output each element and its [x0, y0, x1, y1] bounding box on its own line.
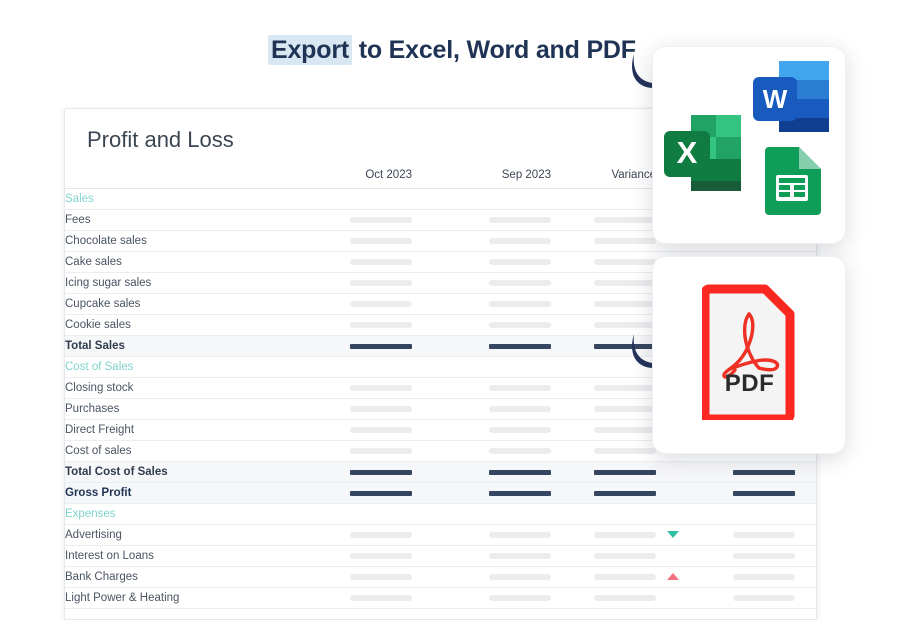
- variance-arrow-cell: [412, 315, 446, 336]
- value-placeholder-sep: [446, 504, 551, 525]
- value-bar: [733, 491, 795, 496]
- row-label: Direct Freight: [65, 420, 307, 441]
- value-bar: [733, 470, 795, 475]
- variance-arrow-cell: [412, 189, 446, 210]
- variance-arrow-cell: [412, 294, 446, 315]
- value-placeholder-extra: [795, 588, 817, 609]
- word-icon[interactable]: W: [751, 57, 833, 139]
- value-placeholder-variance: [551, 546, 656, 567]
- value-placeholder-oct: [307, 441, 412, 462]
- variance-arrow-cell: [412, 525, 446, 546]
- value-bar: [489, 448, 551, 454]
- arrow-up-icon: [667, 573, 679, 580]
- value-bar: [733, 532, 795, 538]
- value-placeholder-variance: [551, 483, 656, 504]
- row-label: Expenses: [65, 504, 307, 525]
- value-bar: [489, 217, 551, 223]
- value-placeholder-varpct: [690, 462, 795, 483]
- value-placeholder-sep: [446, 210, 551, 231]
- value-bar: [489, 427, 551, 433]
- value-placeholder-oct: [307, 588, 412, 609]
- variance-arrow-cell: [412, 504, 446, 525]
- table-row: Advertising: [65, 525, 817, 546]
- col-header-sep-2023: Sep 2023: [446, 169, 551, 189]
- value-placeholder-sep: [446, 336, 551, 357]
- value-placeholder-oct: [307, 483, 412, 504]
- value-placeholder-sep: [446, 399, 551, 420]
- value-placeholder-oct: [307, 567, 412, 588]
- row-label: Cake sales: [65, 252, 307, 273]
- value-bar: [489, 470, 551, 475]
- value-bar: [733, 553, 795, 559]
- row-label: Closing stock: [65, 378, 307, 399]
- row-label: Cookie sales: [65, 315, 307, 336]
- variance-arrow-cell: [412, 483, 446, 504]
- value-placeholder-sep: [446, 483, 551, 504]
- pdf-label: PDF: [702, 370, 797, 398]
- value-placeholder-sep: [446, 315, 551, 336]
- value-bar: [350, 301, 412, 307]
- value-placeholder-sep: [446, 588, 551, 609]
- value-placeholder-varpct: [690, 588, 795, 609]
- value-placeholder-oct: [307, 273, 412, 294]
- value-placeholder-oct: [307, 399, 412, 420]
- table-row: Interest on Loans: [65, 546, 817, 567]
- value-placeholder-variance: [551, 399, 656, 420]
- value-placeholder-variance: [551, 504, 656, 525]
- value-bar: [489, 491, 551, 496]
- value-bar: [594, 595, 656, 601]
- value-placeholder-sep: [446, 294, 551, 315]
- variance-arrow-cell: [412, 420, 446, 441]
- value-bar: [350, 491, 412, 496]
- value-bar: [350, 532, 412, 538]
- row-label: Chocolate sales: [65, 231, 307, 252]
- col-header-blank: [65, 169, 307, 189]
- svg-text:W: W: [763, 84, 788, 114]
- office-export-card[interactable]: X W: [652, 46, 846, 244]
- value-bar: [594, 491, 656, 496]
- value-bar: [594, 574, 656, 580]
- value-bar: [350, 553, 412, 559]
- value-placeholder-variance: [551, 462, 656, 483]
- table-row: Bank Charges: [65, 567, 817, 588]
- value-bar: [489, 406, 551, 412]
- value-bar: [489, 574, 551, 580]
- value-placeholder-variance: [551, 588, 656, 609]
- value-placeholder-oct: [307, 294, 412, 315]
- variance-arrow-cell: [412, 567, 446, 588]
- value-placeholder-oct: [307, 504, 412, 525]
- value-placeholder-variance: [551, 273, 656, 294]
- value-bar: [489, 385, 551, 391]
- value-placeholder-oct: [307, 315, 412, 336]
- value-placeholder-extra: [795, 462, 817, 483]
- row-label: Light Power & Heating: [65, 588, 307, 609]
- value-bar: [594, 470, 656, 475]
- value-placeholder-oct: [307, 189, 412, 210]
- variance-arrow-cell: [656, 483, 690, 504]
- variance-arrow-cell: [412, 546, 446, 567]
- value-placeholder-oct: [307, 231, 412, 252]
- row-label: Sales: [65, 189, 307, 210]
- variance-arrow-cell: [412, 462, 446, 483]
- value-bar: [489, 301, 551, 307]
- value-placeholder-oct: [307, 546, 412, 567]
- value-bar: [350, 574, 412, 580]
- value-placeholder-sep: [446, 441, 551, 462]
- variance-arrow-cell: [412, 252, 446, 273]
- value-placeholder-varpct: [690, 504, 795, 525]
- value-placeholder-variance: [551, 189, 656, 210]
- value-placeholder-oct: [307, 252, 412, 273]
- variance-arrow-cell: [656, 588, 690, 609]
- value-placeholder-oct: [307, 210, 412, 231]
- value-placeholder-sep: [446, 378, 551, 399]
- value-bar: [350, 470, 412, 475]
- col-header-oct-2023: Oct 2023: [307, 169, 412, 189]
- value-placeholder-extra: [795, 504, 817, 525]
- value-bar: [489, 322, 551, 328]
- row-label: Cost of sales: [65, 441, 307, 462]
- pdf-icon[interactable]: PDF: [702, 284, 797, 420]
- value-placeholder-oct: [307, 462, 412, 483]
- value-bar: [733, 595, 795, 601]
- value-bar: [594, 385, 656, 391]
- variance-arrow-cell: [412, 441, 446, 462]
- value-placeholder-variance: [551, 378, 656, 399]
- google-sheets-icon[interactable]: [759, 143, 827, 215]
- value-placeholder-oct: [307, 420, 412, 441]
- value-placeholder-varpct: [690, 483, 795, 504]
- value-bar: [350, 322, 412, 328]
- value-bar: [594, 322, 656, 328]
- table-row: Expenses: [65, 504, 817, 525]
- page-headline: Export to Excel, Word and PDF: [268, 36, 636, 65]
- variance-arrow-cell: [412, 273, 446, 294]
- headline-highlight: Export: [268, 35, 352, 65]
- row-label: Total Sales: [65, 336, 307, 357]
- value-bar: [489, 280, 551, 286]
- value-bar: [489, 344, 551, 349]
- value-placeholder-variance: [551, 567, 656, 588]
- pdf-export-card[interactable]: PDF: [652, 256, 846, 454]
- variance-arrow-cell: [412, 378, 446, 399]
- value-bar: [350, 217, 412, 223]
- value-bar: [594, 448, 656, 454]
- col-header-variance: Variance: [551, 169, 656, 189]
- value-bar: [594, 301, 656, 307]
- value-bar: [594, 217, 656, 223]
- value-placeholder-sep: [446, 231, 551, 252]
- value-bar: [350, 448, 412, 454]
- value-bar: [594, 280, 656, 286]
- value-bar: [594, 532, 656, 538]
- value-placeholder-variance: [551, 210, 656, 231]
- value-placeholder-variance: [551, 252, 656, 273]
- value-placeholder-variance: [551, 231, 656, 252]
- value-placeholder-variance: [551, 294, 656, 315]
- value-placeholder-sep: [446, 567, 551, 588]
- value-placeholder-variance: [551, 441, 656, 462]
- value-placeholder-extra: [795, 567, 817, 588]
- value-bar: [733, 574, 795, 580]
- variance-arrow-cell: [412, 210, 446, 231]
- variance-arrow-cell: [412, 336, 446, 357]
- value-bar: [350, 238, 412, 244]
- value-bar: [350, 406, 412, 412]
- value-bar: [350, 595, 412, 601]
- variance-arrow-cell: [656, 462, 690, 483]
- value-bar: [594, 238, 656, 244]
- value-bar: [489, 259, 551, 265]
- row-label: Interest on Loans: [65, 546, 307, 567]
- value-placeholder-extra: [795, 483, 817, 504]
- variance-arrow-cell: [412, 231, 446, 252]
- row-label: Advertising: [65, 525, 307, 546]
- value-bar: [350, 427, 412, 433]
- value-placeholder-varpct: [690, 546, 795, 567]
- value-placeholder-extra: [795, 546, 817, 567]
- row-label: Cupcake sales: [65, 294, 307, 315]
- excel-icon[interactable]: X: [661, 109, 747, 195]
- value-placeholder-oct: [307, 378, 412, 399]
- variance-arrow-cell: [656, 525, 690, 546]
- row-label: Gross Profit: [65, 483, 307, 504]
- value-placeholder-varpct: [690, 525, 795, 546]
- value-bar: [350, 344, 412, 349]
- variance-arrow-cell: [656, 504, 690, 525]
- variance-arrow-cell: [656, 546, 690, 567]
- value-bar: [489, 532, 551, 538]
- value-bar: [594, 427, 656, 433]
- table-row: Light Power & Heating: [65, 588, 817, 609]
- value-bar: [489, 595, 551, 601]
- variance-arrow-cell: [412, 588, 446, 609]
- row-label: Purchases: [65, 399, 307, 420]
- value-placeholder-oct: [307, 336, 412, 357]
- value-placeholder-sep: [446, 357, 551, 378]
- value-placeholder-varpct: [690, 567, 795, 588]
- value-placeholder-sep: [446, 273, 551, 294]
- value-bar: [489, 553, 551, 559]
- value-placeholder-sep: [446, 252, 551, 273]
- headline-rest: to Excel, Word and PDF: [352, 36, 636, 64]
- table-row: Total Cost of Sales: [65, 462, 817, 483]
- row-label: Fees: [65, 210, 307, 231]
- value-placeholder-sep: [446, 546, 551, 567]
- table-row: Gross Profit: [65, 483, 817, 504]
- value-placeholder-oct: [307, 357, 412, 378]
- page-title: Profit and Loss: [87, 127, 234, 153]
- value-placeholder-variance: [551, 420, 656, 441]
- value-bar: [594, 553, 656, 559]
- value-bar: [350, 259, 412, 265]
- variance-arrow-cell: [412, 399, 446, 420]
- value-placeholder-sep: [446, 462, 551, 483]
- value-bar: [594, 259, 656, 265]
- value-bar: [350, 385, 412, 391]
- svg-text:X: X: [677, 135, 698, 170]
- row-label: Bank Charges: [65, 567, 307, 588]
- value-placeholder-variance: [551, 525, 656, 546]
- value-placeholder-extra: [795, 525, 817, 546]
- row-label: Total Cost of Sales: [65, 462, 307, 483]
- value-bar: [489, 238, 551, 244]
- row-label: Cost of Sales: [65, 357, 307, 378]
- value-placeholder-sep: [446, 525, 551, 546]
- variance-arrow-cell: [656, 567, 690, 588]
- value-placeholder-oct: [307, 525, 412, 546]
- value-bar: [594, 406, 656, 412]
- value-placeholder-sep: [446, 189, 551, 210]
- variance-arrow-cell: [412, 357, 446, 378]
- value-placeholder-sep: [446, 420, 551, 441]
- value-bar: [350, 280, 412, 286]
- col-header-spacer-1: [412, 169, 446, 189]
- arrow-down-icon: [667, 531, 679, 538]
- row-label: Icing sugar sales: [65, 273, 307, 294]
